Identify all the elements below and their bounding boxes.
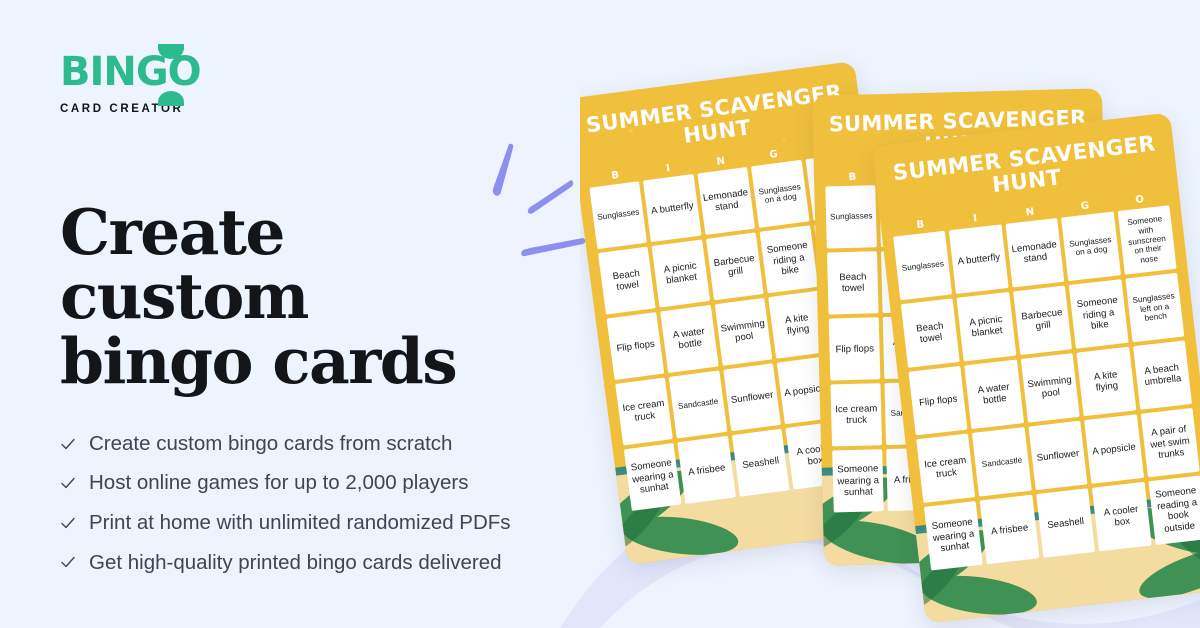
logo-o-decoration	[154, 42, 188, 108]
bingo-cell[interactable]: A butterfly	[643, 174, 701, 242]
bingo-cell[interactable]: Beach towel	[901, 299, 960, 369]
list-item-label: Print at home with unlimited randomized …	[89, 510, 511, 536]
bingo-cell[interactable]: Lemonade stand	[1005, 218, 1064, 288]
bingo-cell[interactable]: Swimming pool	[714, 298, 772, 366]
check-icon	[60, 475, 76, 491]
bingo-cell[interactable]: A pair of wet swim trunks	[1140, 408, 1199, 478]
bingo-cell[interactable]: Sunglasses on a dog	[751, 160, 809, 228]
bingo-cell[interactable]: Sandcastle	[972, 427, 1031, 497]
bingo-cell[interactable]: A kite flying	[1077, 347, 1136, 417]
bingo-cell[interactable]: Flip flops	[909, 366, 968, 436]
brand-logo[interactable]: BINGO CARD CREATOR	[60, 52, 300, 138]
bingo-cell[interactable]: Barbecue grill	[706, 233, 764, 301]
bingo-cell[interactable]: A picnic blanket	[652, 240, 710, 308]
bingo-cell[interactable]: Swimming pool	[1021, 354, 1080, 424]
spark-decoration-icon	[487, 140, 587, 260]
bingo-grid-wrap: Sunglasses A butterfly Lemonade stand Su…	[893, 206, 1200, 571]
check-icon	[60, 436, 76, 452]
bingo-cell[interactable]: Someone wearing a sunhat	[832, 449, 884, 512]
bingo-cell[interactable]: Seashell	[732, 429, 790, 497]
bingo-cell[interactable]: A picnic blanket	[957, 292, 1016, 362]
bingo-cell[interactable]: A frisbee	[980, 495, 1039, 565]
bingo-cell[interactable]: Barbecue grill	[1013, 286, 1072, 356]
list-item-label: Get high-quality printed bingo cards del…	[89, 550, 502, 576]
bingo-cell[interactable]: Seashell	[1036, 489, 1095, 559]
list-item: Host online games for up to 2,000 player…	[60, 470, 620, 496]
bingo-cell[interactable]: Sunglasses	[825, 186, 877, 249]
bingo-cell[interactable]: Someone reading a book outside	[1148, 476, 1200, 546]
page-headline: Create custom bingo cards	[60, 200, 530, 393]
bingo-cell[interactable]: Someone wearing a sunhat	[624, 443, 682, 511]
list-item: Create custom bingo cards from scratch	[60, 431, 620, 457]
check-icon	[60, 515, 76, 531]
bingo-cell[interactable]: A beach umbrella	[1133, 341, 1192, 411]
bingo-cell[interactable]: Someone wearing a sunhat	[924, 501, 983, 571]
bingo-cell[interactable]: Sunglasses	[893, 231, 952, 301]
bingo-cell[interactable]: Ice cream truck	[615, 378, 673, 446]
hero-left-column: BINGO CARD CREATOR Create custom bingo c…	[60, 52, 620, 589]
bingo-card-front[interactable]: SUMMER SCAVENGER HUNT B I N G O Sunglass…	[872, 113, 1200, 624]
feature-list: Create custom bingo cards from scratch H…	[60, 431, 620, 576]
bingo-cell[interactable]: A frisbee	[678, 436, 736, 504]
bingo-cell[interactable]: Someone with sunscreen on their nose	[1117, 206, 1176, 276]
bingo-cell[interactable]: Sunglasses left on a bench	[1125, 273, 1184, 343]
bingo-cards-group: SUMMER SCAVENGER HUNT B I N G O Sunglass…	[580, 0, 1200, 628]
list-item-label: Host online games for up to 2,000 player…	[89, 470, 468, 496]
bingo-grid: Sunglasses A butterfly Lemonade stand Su…	[893, 206, 1200, 571]
bingo-cell[interactable]: Lemonade stand	[697, 167, 755, 235]
bingo-cell[interactable]: A butterfly	[949, 225, 1008, 295]
bingo-cell[interactable]: A water bottle	[965, 360, 1024, 430]
list-item: Get high-quality printed bingo cards del…	[60, 550, 620, 576]
bingo-cell[interactable]: Someone riding a bike	[760, 226, 818, 294]
bingo-cell[interactable]: Sandcastle	[669, 371, 727, 439]
headline-line-1: Create custom	[60, 195, 308, 333]
bingo-cell[interactable]: Sunglasses on a dog	[1061, 212, 1120, 282]
bingo-cell[interactable]: A popsicle	[1084, 415, 1143, 485]
bingo-cell[interactable]: A water bottle	[661, 305, 719, 373]
list-item-label: Create custom bingo cards from scratch	[89, 431, 452, 457]
headline-line-2: bingo cards	[60, 324, 456, 398]
bingo-cell[interactable]: Someone riding a bike	[1069, 280, 1128, 350]
bingo-cell[interactable]: A cooler box	[1092, 482, 1151, 552]
bingo-cell[interactable]: Flip flops	[829, 318, 881, 381]
bingo-cell[interactable]: Beach towel	[827, 252, 879, 315]
bingo-cell[interactable]: Ice cream truck	[830, 384, 882, 447]
check-icon	[60, 554, 76, 570]
column-header-b: B	[826, 171, 879, 183]
bingo-cell[interactable]: Ice cream truck	[916, 434, 975, 504]
list-item: Print at home with unlimited randomized …	[60, 510, 620, 536]
bingo-cell[interactable]: Sunflower	[723, 364, 781, 432]
bingo-cell[interactable]: Sunflower	[1028, 421, 1087, 491]
